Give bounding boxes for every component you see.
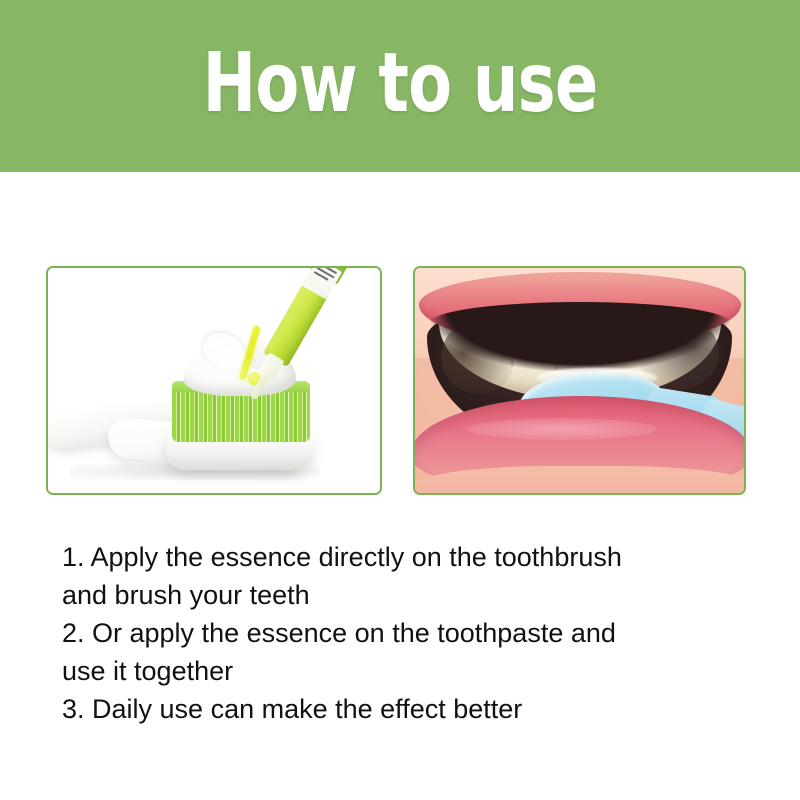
panel-apply-essence-to-toothpaste	[46, 266, 382, 495]
instruction-line: 3. Daily use can make the effect better	[62, 690, 762, 728]
instruction-line: use it together	[62, 652, 762, 690]
instruction-line: 2. Or apply the essence on the toothpast…	[62, 614, 762, 652]
mouth-brushing-illustration	[415, 268, 744, 493]
lower-lip-highlight	[467, 418, 657, 440]
chin	[413, 466, 746, 495]
toothbrush-illustration	[48, 268, 380, 493]
applicator-nozzle	[250, 374, 270, 401]
how-to-use-page: How to use	[0, 0, 800, 800]
image-panels-row	[46, 266, 746, 495]
panel-brushing-teeth	[413, 266, 746, 495]
instruction-line: and brush your teeth	[62, 576, 762, 614]
instruction-line: 1. Apply the essence directly on the too…	[62, 538, 762, 576]
instructions-list: 1. Apply the essence directly on the too…	[62, 538, 762, 728]
page-title: How to use	[203, 46, 598, 121]
header-banner: How to use	[0, 0, 800, 172]
